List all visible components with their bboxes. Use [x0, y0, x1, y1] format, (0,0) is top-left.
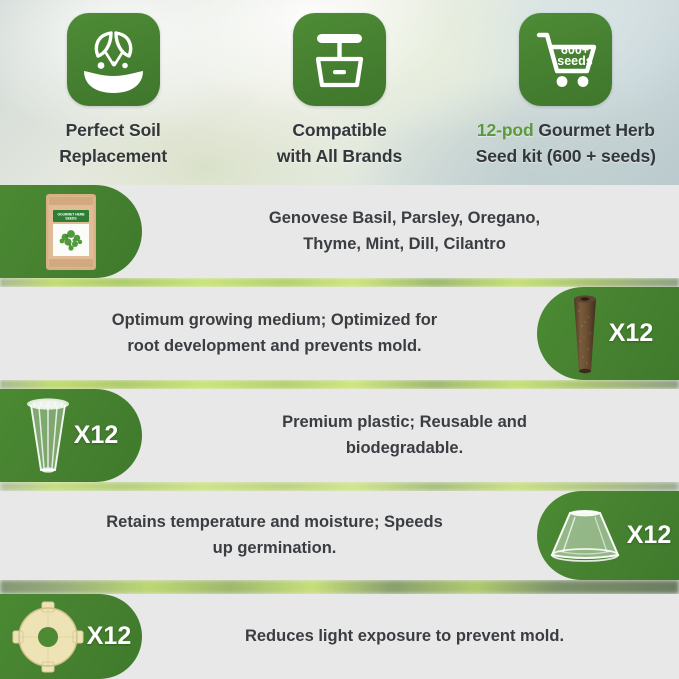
row-text-line1: Optimum growing medium; Optimized for	[112, 308, 437, 334]
row-qty-badge: X12	[627, 521, 671, 550]
row-text-line1: Retains temperature and moisture; Speeds	[106, 510, 443, 536]
header-label-line1: Compatible	[277, 118, 402, 144]
row-text-line2: biodegradable.	[282, 436, 527, 462]
feature-row-grow-sponges: X12 Optimum growing medium; Optimized fo…	[0, 287, 679, 380]
row-thumb-pill: GOURMET HERB SEEDS	[0, 185, 142, 278]
feature-row-humidity-domes: X12 Retains temperature and moisture; Sp…	[0, 491, 679, 580]
row-text-line1: Genovese Basil, Parsley, Oregano,	[269, 206, 540, 232]
header-label-seed-kit: 12-pod Gourmet Herb Seed kit (600 + seed…	[476, 118, 656, 169]
row-text-grow-sponges: Optimum growing medium; Optimized for ro…	[30, 287, 519, 380]
row-qty-badge: X12	[609, 319, 653, 348]
svg-text:SEEDS: SEEDS	[65, 216, 77, 220]
header-banner: Perfect Soil Replacement Compatible wi	[0, 0, 679, 185]
cart-badge-line2: seeds	[558, 54, 593, 68]
soil-leaves-icon	[67, 13, 160, 106]
header-columns: Perfect Soil Replacement Compatible wi	[0, 0, 679, 185]
header-label-line2: with All Brands	[277, 144, 402, 170]
row-divider-4	[0, 580, 679, 594]
header-label-perfect-soil: Perfect Soil Replacement	[59, 118, 167, 169]
row-text-line2: up germination.	[106, 536, 443, 562]
header-column-seed-kit: 600+ seeds 12-pod Gourmet Herb Seed kit …	[453, 0, 679, 185]
header-label-compatible: Compatible with All Brands	[277, 118, 402, 169]
row-text-seed-packets: Genovese Basil, Parsley, Oregano, Thyme,…	[160, 185, 649, 278]
row-text-line1: Premium plastic; Reusable and	[282, 410, 527, 436]
row-text-light-blocking-discs: Reduces light exposure to prevent mold.	[160, 594, 649, 679]
row-divider-1	[0, 278, 679, 287]
plastic-grow-basket-thumb	[24, 394, 72, 478]
shopping-cart-seeds-icon: 600+ seeds	[519, 13, 612, 106]
coir-grow-plug-thumb	[563, 291, 607, 377]
header-column-compatible: Compatible with All Brands	[226, 0, 452, 185]
row-text-line2: root development and prevents mold.	[112, 334, 437, 360]
row-text-humidity-domes: Retains temperature and moisture; Speeds…	[30, 491, 519, 580]
row-divider-3	[0, 482, 679, 491]
humidity-dome-thumb	[545, 507, 625, 565]
header-label-line2: Replacement	[59, 144, 167, 170]
header-column-perfect-soil: Perfect Soil Replacement	[0, 0, 226, 185]
light-blocking-disc-thumb	[11, 600, 85, 674]
header-label-line1: Perfect Soil	[59, 118, 167, 144]
row-text-line2: Thyme, Mint, Dill, Cilantro	[269, 232, 540, 258]
header-accent-12pod: 12-pod	[477, 120, 534, 140]
header-label-line1-rest: Gourmet Herb	[534, 120, 655, 140]
row-thumb-pill: X12	[537, 287, 679, 380]
row-thumb-pill: X12	[0, 594, 142, 679]
seed-packet-thumb: GOURMET HERB SEEDS	[45, 193, 97, 271]
row-text-line1: Reduces light exposure to prevent mold.	[245, 624, 564, 650]
feature-row-grow-baskets: X12 Premium plastic; Reusable and biodeg…	[0, 389, 679, 482]
feature-row-light-blocking-discs: X12 Reduces light exposure to prevent mo…	[0, 594, 679, 679]
row-qty-badge: X12	[87, 622, 131, 651]
infographic-page: Perfect Soil Replacement Compatible wi	[0, 0, 679, 679]
row-thumb-pill: X12	[537, 491, 679, 580]
header-label-line2: Seed kit (600 + seeds)	[476, 144, 656, 170]
header-label-line1: 12-pod Gourmet Herb	[476, 118, 656, 144]
row-divider-2	[0, 380, 679, 389]
row-thumb-pill: X12	[0, 389, 142, 482]
row-qty-badge: X12	[74, 421, 118, 450]
row-text-grow-baskets: Premium plastic; Reusable and biodegrada…	[160, 389, 649, 482]
feature-row-seed-packets: GOURMET HERB SEEDS	[0, 185, 679, 278]
grow-device-icon	[293, 13, 386, 106]
